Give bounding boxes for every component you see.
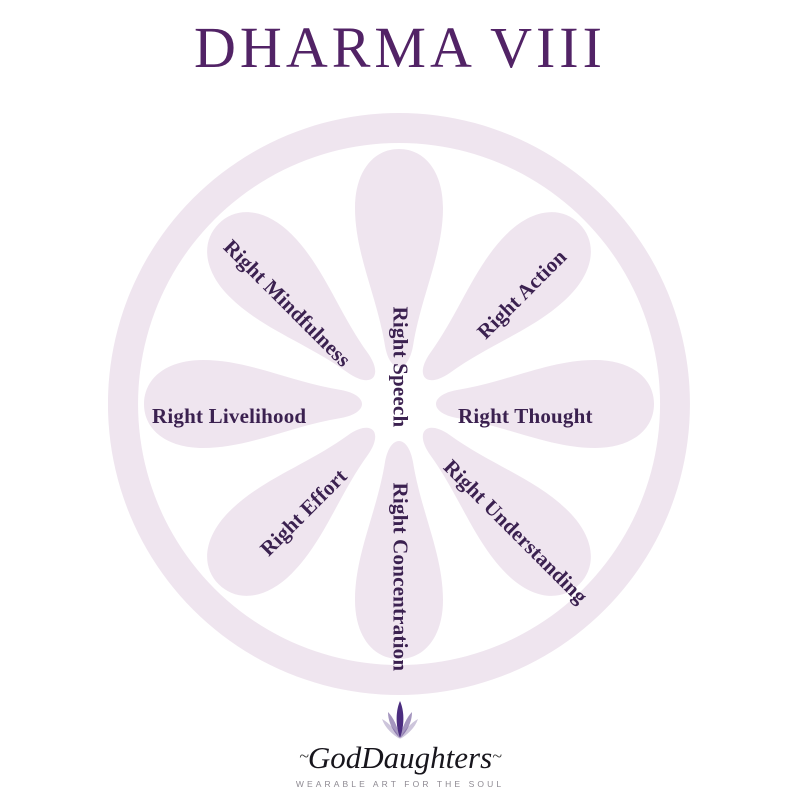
lotus-flower-icon [379, 698, 421, 744]
wheel-label-right-concentration-text: Right Concentration [388, 483, 413, 672]
poster-canvas: DHARMA VIII [0, 0, 800, 800]
logo-wordmark-text: GodDaughters [308, 740, 492, 775]
page-title: DHARMA VIII [0, 18, 800, 79]
wheel-label-right-livelihood-text: Right Livelihood [152, 404, 306, 429]
logo-wordmark: ~GodDaughters~ [0, 742, 800, 775]
logo-swash-left: ~ [299, 746, 308, 766]
wheel-label-right-speech-text: Right Speech [388, 307, 413, 428]
logo-swash-right: ~ [492, 746, 501, 766]
logo-tagline: WEARABLE ART FOR THE SOUL [0, 779, 800, 789]
brand-logo: ~GodDaughters~ WEARABLE ART FOR THE SOUL [0, 698, 800, 789]
wheel-label-right-thought-text: Right Thought [458, 404, 593, 429]
